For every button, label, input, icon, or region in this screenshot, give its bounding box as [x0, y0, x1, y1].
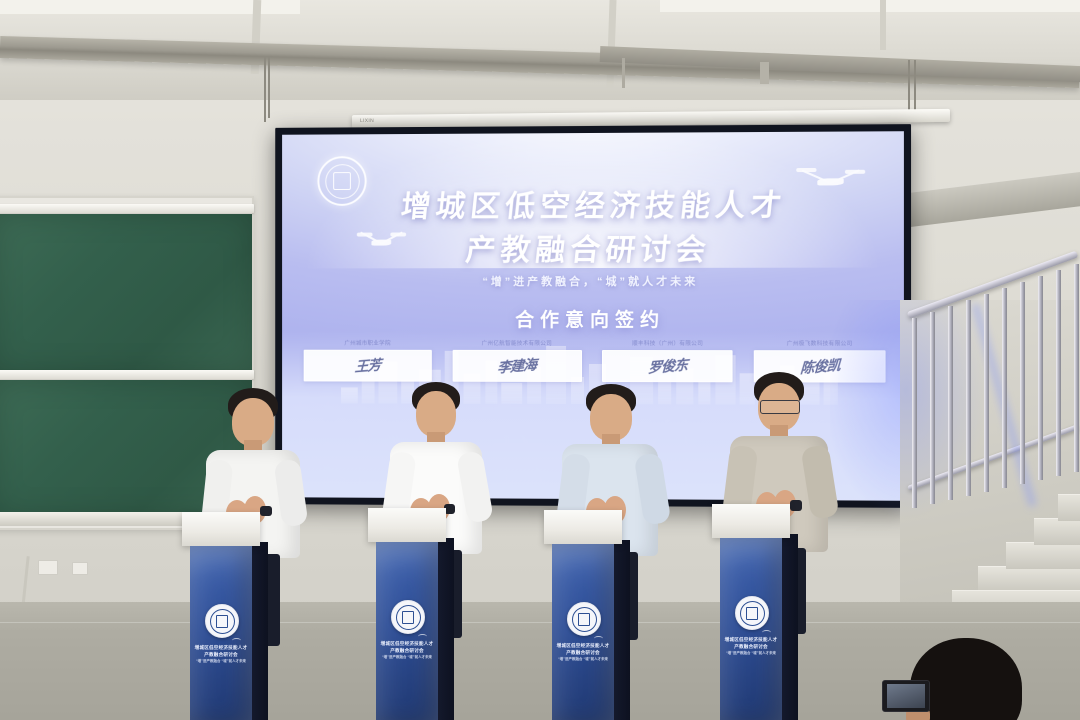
hanging-wire — [622, 58, 625, 88]
slide-subtitle: “增”进产教融合，“城”就人才未来 — [282, 273, 904, 290]
hanging-wire — [264, 56, 266, 122]
slide-section-title: 合作意向签约 — [282, 305, 904, 332]
signature-ink: 李建海 — [497, 354, 537, 377]
podium-caption-line-3: “增”进产教融合 “城”就人才未来 — [556, 656, 610, 663]
signature-column: 广州亿航智能技术有限公司 李建海 — [452, 339, 581, 382]
podium-caption-line-3: “增”进产教融合 “城”就人才未来 — [380, 654, 434, 661]
podium-caption: 增城区低空经济技能人才 产教融合研讨会 “增”进产教融合 “城”就人才未来 — [556, 642, 610, 663]
podium-side — [252, 542, 268, 720]
videographer — [890, 624, 1080, 720]
blue-light-spill — [830, 300, 1020, 600]
baluster — [1020, 282, 1025, 484]
slide-title-line-1: 增城区低空经济技能人才 — [282, 184, 904, 230]
slide-title: 增城区低空经济技能人才 产教融合研讨会 — [282, 184, 904, 274]
wall-outlet — [72, 562, 88, 575]
podium-caption: 增城区低空经济技能人才 产教融合研讨会 “增”进产教融合 “城”就人才未来 — [724, 636, 778, 657]
signature-box: 李建海 — [452, 350, 581, 382]
photo-scene: LIXIN — [0, 0, 1080, 720]
baluster — [1074, 264, 1079, 472]
projector-brand-label: LIXIN — [360, 118, 374, 124]
podium-caption-line-3: “增”进产教融合 “城”就人才未来 — [724, 650, 778, 657]
baluster — [984, 294, 989, 492]
podium-caption-line-1: 增城区低空经济技能人才 — [194, 644, 248, 651]
podium-caption-line-2: 产教融合研讨会 — [194, 651, 248, 658]
podium-top — [182, 512, 260, 546]
podium-body: 增城区低空经济技能人才 产教融合研讨会 “增”进产教融合 “城”就人才未来 — [376, 542, 438, 720]
podium-1: 增城区低空经济技能人才 产教融合研讨会 “增”进产教融合 “城”就人才未来 — [190, 512, 252, 720]
wristwatch — [260, 506, 272, 516]
stair-step — [1034, 518, 1080, 545]
podium-body: 增城区低空经济技能人才 产教融合研讨会 “增”进产教融合 “城”就人才未来 — [720, 538, 782, 720]
podium-caption-line-1: 增城区低空经济技能人才 — [556, 642, 610, 649]
podium-side — [614, 540, 630, 720]
drone-icon — [418, 634, 427, 639]
podium-body: 增城区低空经济技能人才 产教融合研讨会 “增”进产教融合 “城”就人才未来 — [552, 544, 614, 720]
org-label: 广州城市职业学院 — [304, 339, 432, 347]
baluster — [912, 318, 917, 508]
signature-box: 王芳 — [304, 350, 432, 382]
stair-step — [1058, 494, 1080, 521]
slide-title-line-2: 产教融合研讨会 — [282, 228, 904, 273]
head — [416, 391, 456, 437]
podium-caption-line-3: “增”进产教融合 “城”就人才未来 — [194, 658, 248, 665]
hanging-wire — [268, 56, 270, 118]
signature-ink: 罗俊东 — [647, 354, 687, 378]
podium-caption-line-1: 增城区低空经济技能人才 — [380, 640, 434, 647]
institution-seal-icon — [735, 596, 769, 630]
org-label: 顺丰科技（广州）有限公司 — [602, 339, 732, 347]
blackboard-rail — [0, 370, 254, 379]
stair-step — [1006, 542, 1080, 569]
org-label: 广州亿航智能技术有限公司 — [452, 339, 581, 347]
floor-seam — [0, 622, 1080, 623]
podium-caption: 增城区低空经济技能人才 产教融合研讨会 “增”进产教融合 “城”就人才未来 — [194, 644, 248, 665]
junction-box — [760, 62, 769, 84]
podium-side — [782, 534, 798, 720]
signature-box: 罗俊东 — [602, 350, 732, 382]
head — [232, 398, 274, 446]
baluster — [948, 306, 953, 500]
podium-top — [712, 504, 790, 538]
podium-caption-line-2: 产教融合研讨会 — [556, 649, 610, 656]
baluster — [966, 300, 971, 496]
wall-outlet — [38, 560, 58, 575]
signature-column: 广州城市职业学院 王芳 — [304, 339, 432, 382]
wristwatch — [790, 500, 802, 511]
podium-caption-line-2: 产教融合研讨会 — [380, 647, 434, 654]
podium-caption-line-1: 增城区低空经济技能人才 — [724, 636, 778, 643]
glasses-icon — [760, 400, 800, 414]
blackboard-rail — [0, 204, 254, 213]
podium-2: 增城区低空经济技能人才 产教融合研讨会 “增”进产教融合 “城”就人才未来 — [376, 508, 438, 720]
podium-top — [368, 508, 446, 542]
podium-caption: 增城区低空经济技能人才 产教融合研讨会 “增”进产教融合 “城”就人才未来 — [380, 640, 434, 661]
podium-top — [544, 510, 622, 544]
baluster — [1038, 276, 1043, 480]
institution-seal-icon — [567, 602, 601, 636]
podium-caption-line-2: 产教融合研讨会 — [724, 643, 778, 650]
drone-icon — [232, 638, 241, 643]
smartphone-icon — [882, 680, 930, 712]
institution-seal-icon — [205, 604, 239, 638]
baluster — [1002, 288, 1007, 488]
podium-body: 增城区低空经济技能人才 产教融合研讨会 “增”进产教融合 “城”就人才未来 — [190, 546, 252, 720]
signature-ink: 王芳 — [354, 355, 381, 377]
podium-side — [438, 538, 454, 720]
institution-seal-icon — [391, 600, 425, 634]
podium-3: 增城区低空经济技能人才 产教融合研讨会 “增”进产教融合 “城”就人才未来 — [552, 510, 614, 720]
baluster — [1056, 270, 1061, 476]
baluster — [930, 312, 935, 504]
blackboard-surface — [0, 214, 252, 372]
podium-4: 增城区低空经济技能人才 产教融合研讨会 “增”进产教融合 “城”就人才未来 — [720, 504, 782, 720]
stair-step — [978, 566, 1080, 593]
ceiling-panel-edge — [880, 0, 886, 50]
drone-icon — [762, 630, 771, 635]
drone-icon — [594, 636, 603, 641]
signature-column: 顺丰科技（广州）有限公司 罗俊东 — [602, 339, 732, 382]
ceiling-light-strip — [660, 0, 1080, 12]
